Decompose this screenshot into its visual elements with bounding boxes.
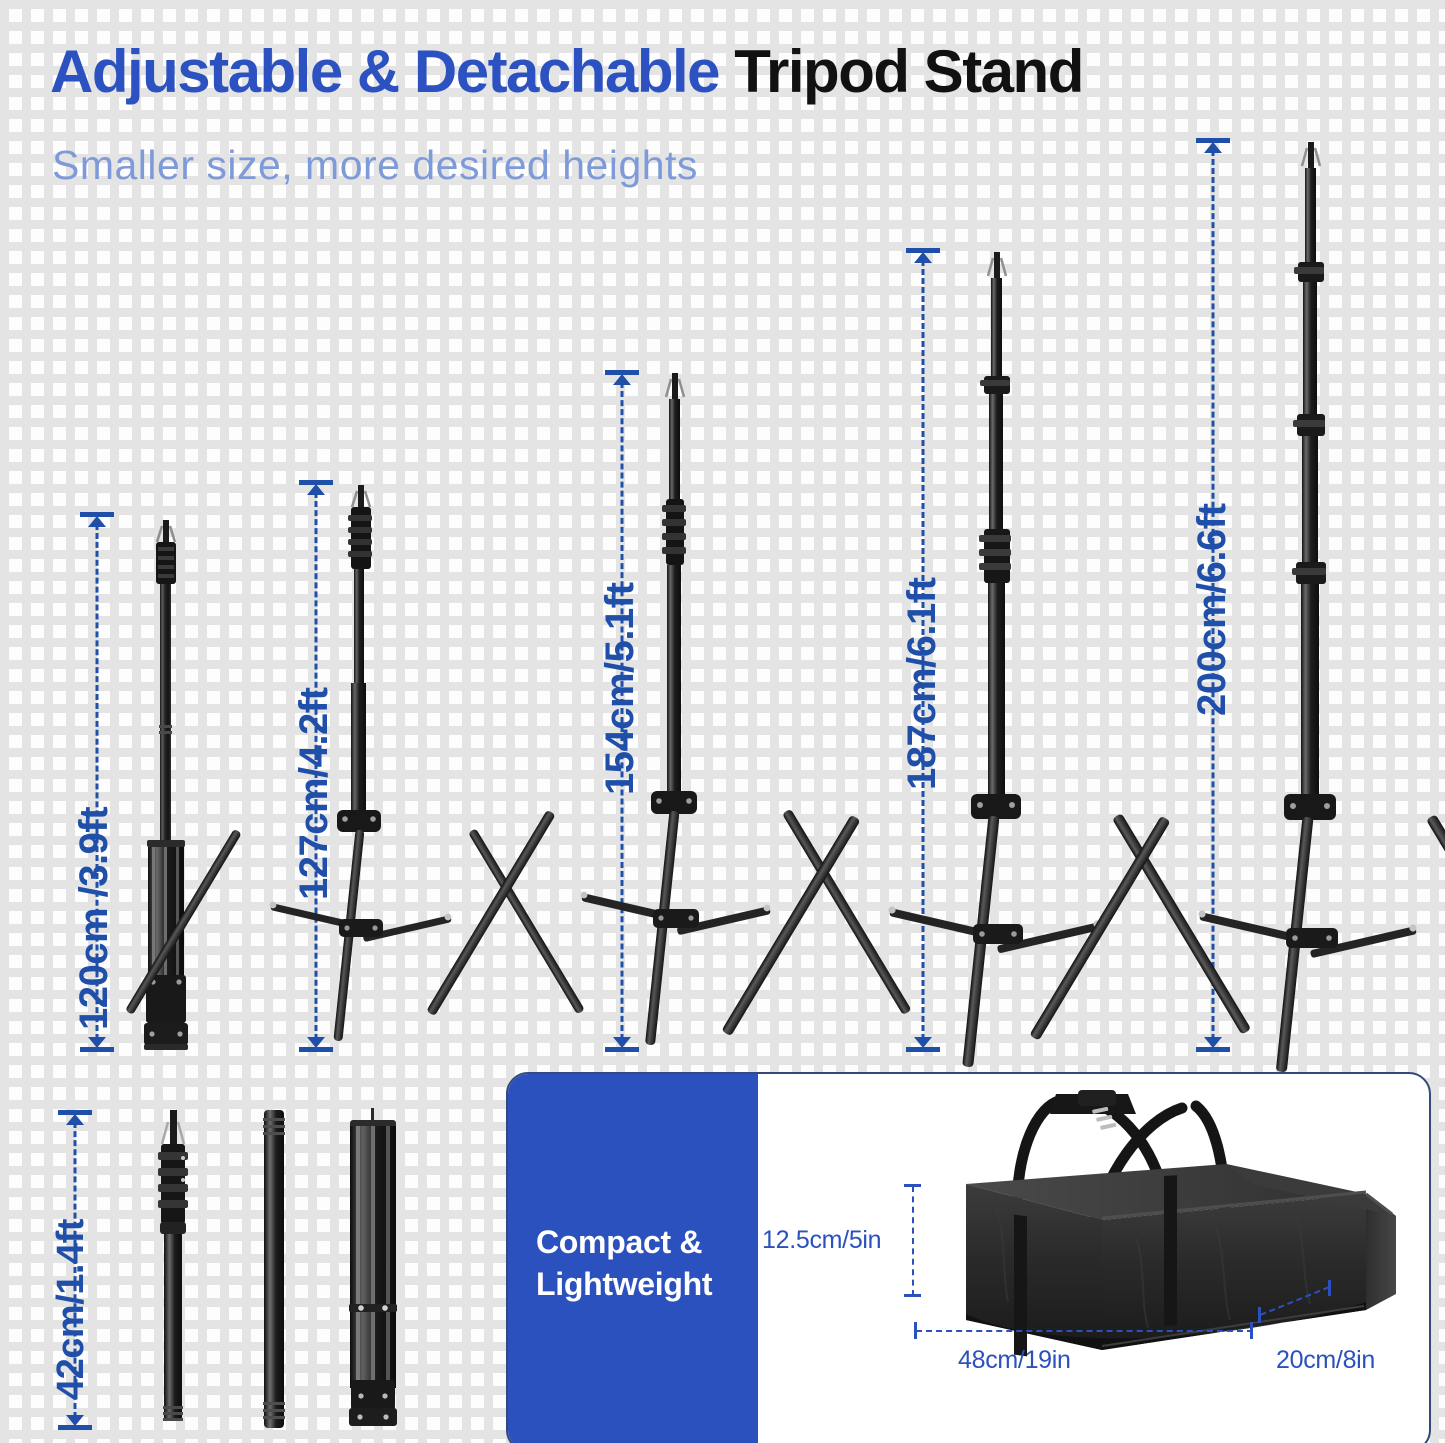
tripod-stand-187	[820, 252, 1120, 1052]
page-subtitle: Smaller size, more desired heights	[52, 145, 698, 186]
bag-depth-tick-far	[1328, 1280, 1331, 1296]
dimension-label-42: 42cm/1.4ft	[50, 1219, 93, 1400]
panel-headline: Compact & Lightweight	[536, 1222, 712, 1305]
compact-lightweight-panel: Compact & Lightweight	[506, 1072, 1431, 1443]
bag-width-tick-right	[1250, 1322, 1253, 1339]
bag-depth-tick-near	[1258, 1307, 1261, 1323]
page-title: Adjustable & Detachable Tripod Stand	[50, 42, 1083, 102]
carry-bag-illustration	[896, 1088, 1416, 1383]
bag-width-label: 48cm/19in	[958, 1346, 1071, 1375]
detached-part-middle-tube	[258, 1110, 290, 1430]
bag-height-tick-bottom	[904, 1294, 921, 1297]
infographic-canvas: Adjustable & Detachable Tripod Stand Sma…	[0, 0, 1445, 1443]
bag-height-tick-top	[904, 1184, 921, 1187]
page-title-blue: Adjustable & Detachable	[50, 38, 719, 105]
tripod-stand-154	[520, 373, 810, 1055]
page-title-black: Tripod Stand	[734, 38, 1083, 105]
bag-width-tick-left	[914, 1322, 917, 1339]
bag-depth-label: 20cm/8in	[1276, 1346, 1375, 1375]
bag-height-dimension-line	[912, 1186, 914, 1296]
dimension-label-120: 120cm /3.9ft	[72, 807, 117, 1030]
panel-headline-line1: Compact &	[536, 1222, 712, 1264]
tripod-stand-folded-120	[118, 520, 228, 1055]
detached-part-top-column	[146, 1110, 202, 1430]
tripod-stand-200	[1130, 142, 1430, 1052]
bag-height-label: 12.5cm/5in	[762, 1226, 881, 1255]
bag-width-dimension-line	[916, 1330, 1253, 1332]
detached-part-folded-legs	[340, 1108, 406, 1430]
panel-headline-line2: Lightweight	[536, 1264, 712, 1306]
